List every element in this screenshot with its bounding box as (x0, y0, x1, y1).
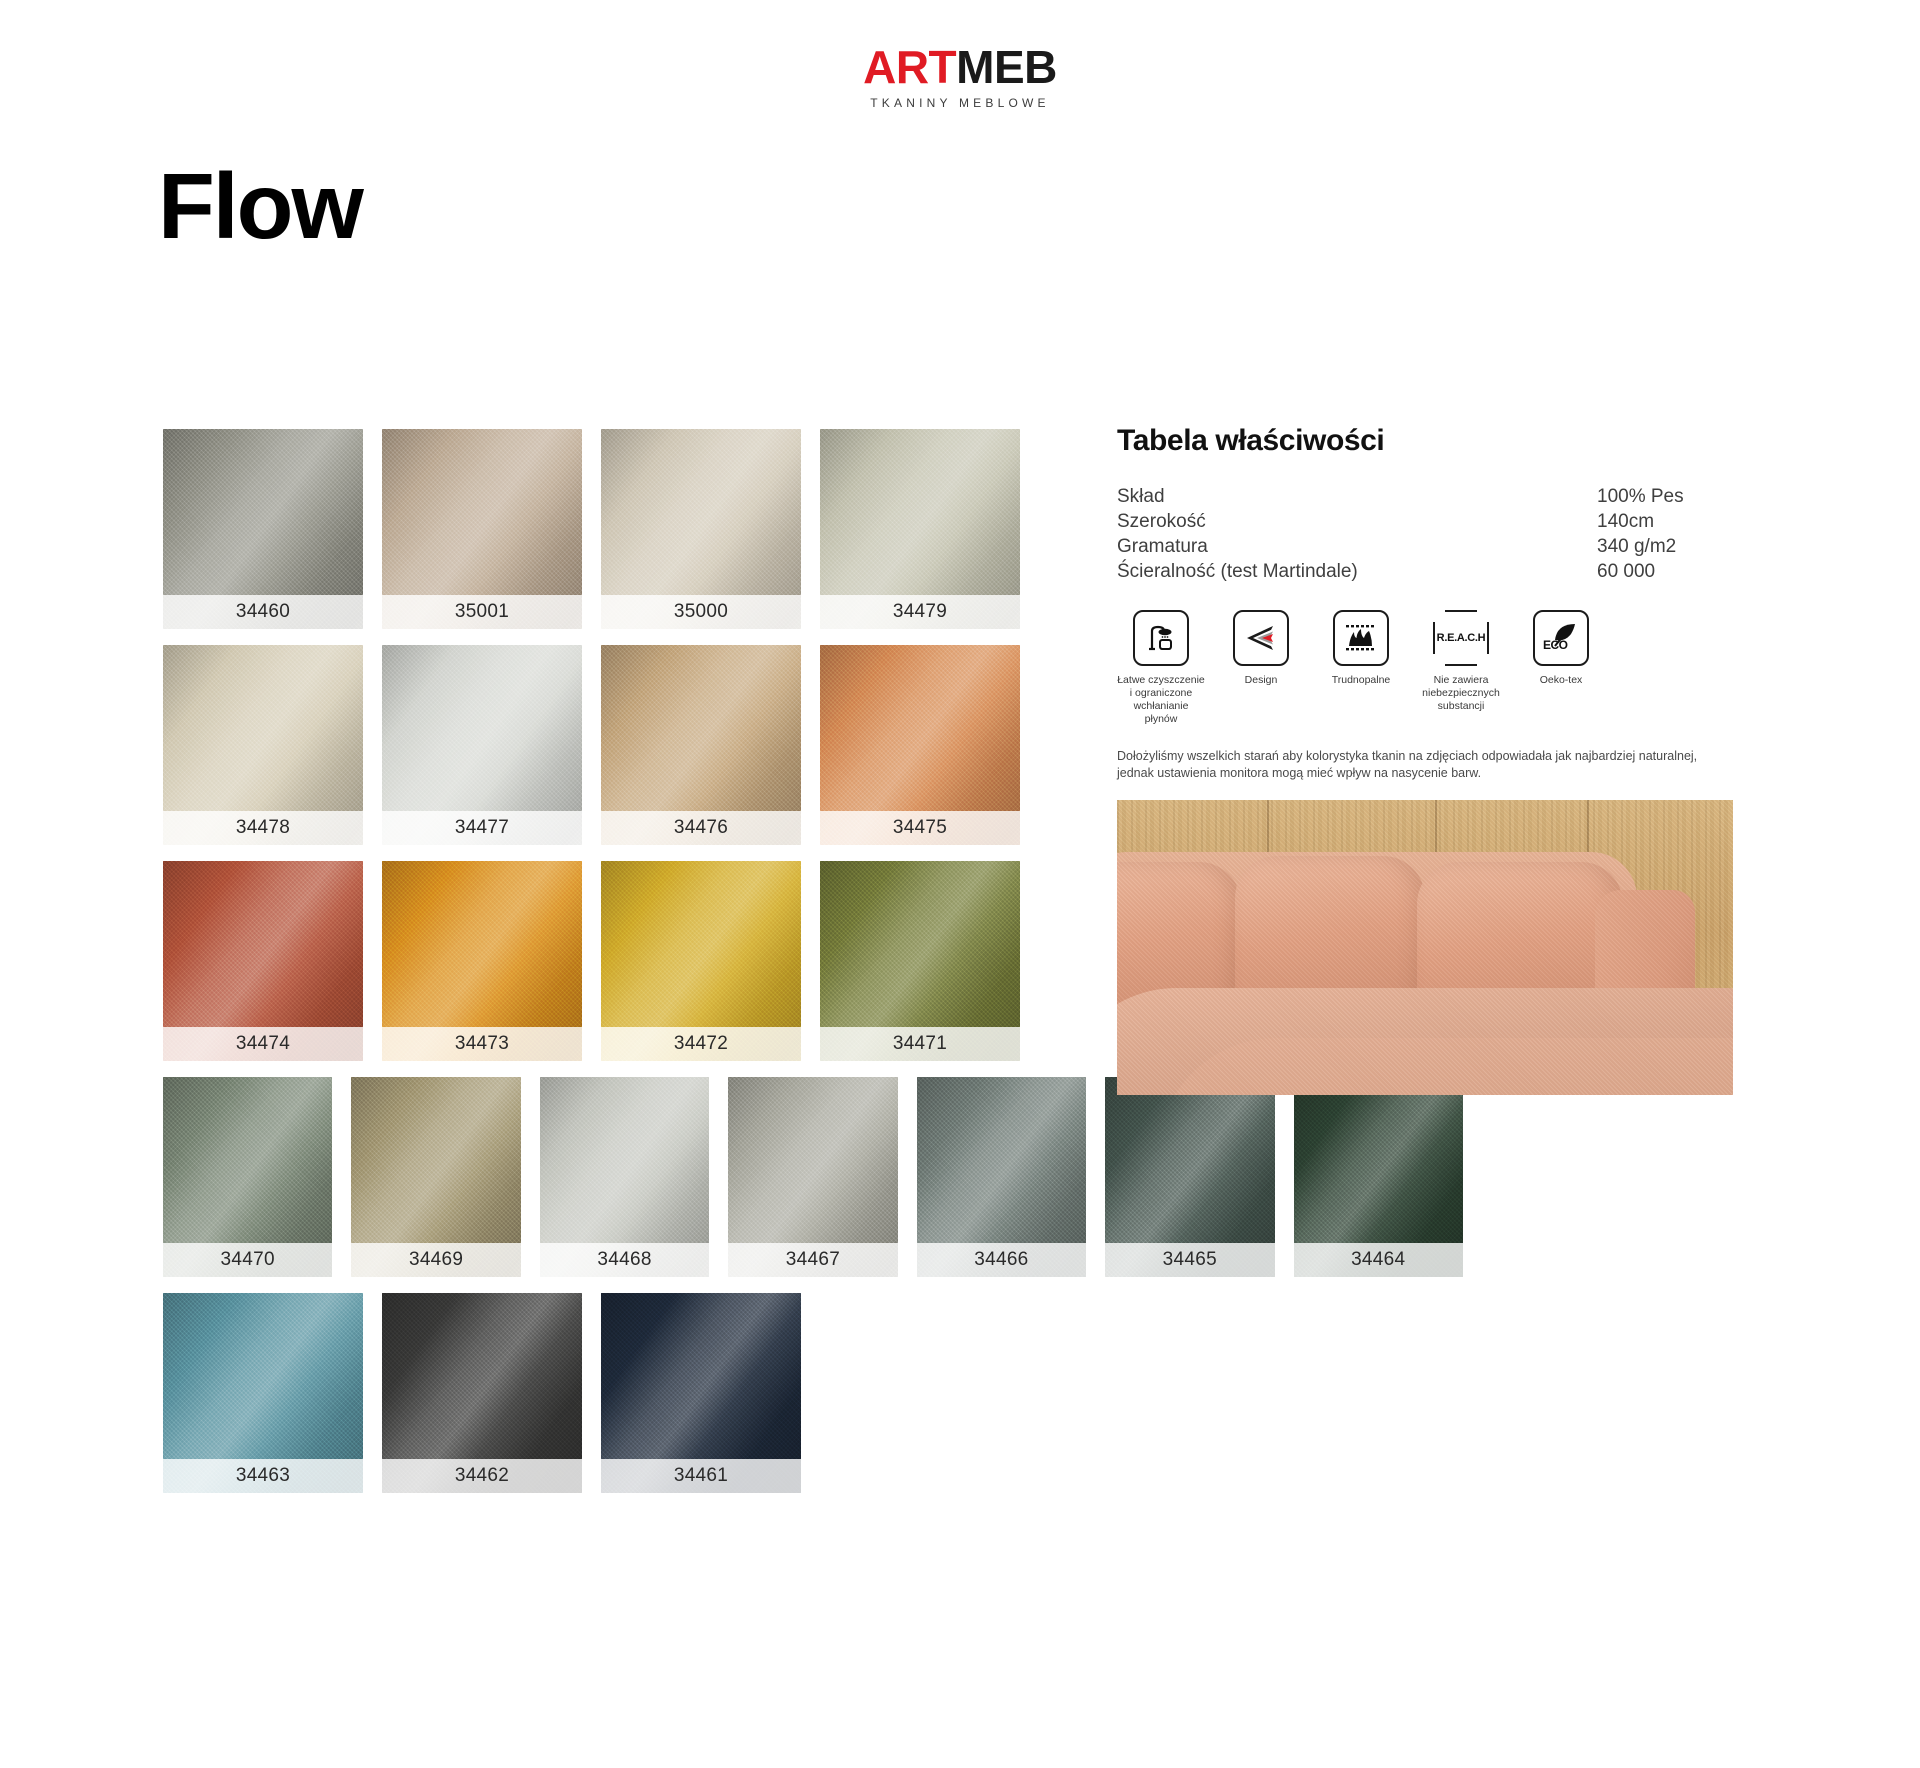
certification-item: Łatwe czyszczenie i ograniczone wchłania… (1117, 610, 1205, 726)
fabric-swatch[interactable]: 34476 (601, 645, 801, 845)
swatch-code-band: 34460 (163, 595, 363, 629)
swatch-row: 34463 34462 34461 (163, 1293, 1463, 1493)
fabric-swatch[interactable]: 34472 (601, 861, 801, 1061)
fabric-swatch[interactable]: 34466 (917, 1077, 1086, 1277)
swatch-code: 34460 (236, 601, 290, 623)
swatch-code-band: 34463 (163, 1459, 363, 1493)
fabric-swatch[interactable]: 34469 (351, 1077, 520, 1277)
eco-label: ECO (1543, 638, 1568, 652)
property-value: 60 000 (1597, 559, 1757, 584)
fabric-swatch[interactable]: 34474 (163, 861, 363, 1061)
property-value: 100% Pes (1597, 484, 1757, 509)
swatch-code: 34474 (236, 1033, 290, 1055)
swatch-code: 34468 (597, 1249, 651, 1271)
swatch-code-band: 34473 (382, 1027, 582, 1061)
certification-caption: Design (1217, 674, 1305, 687)
swatch-code: 34464 (1351, 1249, 1405, 1271)
fabric-swatch[interactable]: 34467 (728, 1077, 897, 1277)
properties-panel: Tabela właściwości Skład 100% Pes Szerok… (1117, 424, 1757, 815)
oeko-tex-icon: ECO (1533, 610, 1589, 666)
property-row: Szerokość 140cm (1117, 509, 1757, 534)
logo-tagline: TKANINY MEBLOWE (0, 96, 1920, 110)
fabric-swatch[interactable]: 34464 (1294, 1077, 1463, 1277)
swatch-code-band: 34477 (382, 811, 582, 845)
property-row: Ścieralność (test Martindale) 60 000 (1117, 559, 1757, 584)
swatch-code-band: 34478 (163, 811, 363, 845)
disclaimer-paragraph-1: Dołożyliśmy wszelkich starań aby kolorys… (1117, 748, 1735, 782)
swatch-row: 34470 34469 34468 34467 (163, 1077, 1463, 1277)
brand-logo: ARTMEB TKANINY MEBLOWE (0, 44, 1920, 110)
swatch-code: 34465 (1163, 1249, 1217, 1271)
design-icon (1233, 610, 1289, 666)
fabric-swatch[interactable]: 34473 (382, 861, 582, 1061)
swatch-code: 34472 (674, 1033, 728, 1055)
property-value: 340 g/m2 (1597, 534, 1757, 559)
swatch-code-band: 34461 (601, 1459, 801, 1493)
swatch-code: 34479 (893, 601, 947, 623)
swatch-code-band: 34470 (163, 1243, 332, 1277)
fabric-swatch[interactable]: 34477 (382, 645, 582, 845)
swatch-code-band: 34472 (601, 1027, 801, 1061)
sofa-room-photo (1117, 800, 1733, 1095)
swatch-code-band: 34471 (820, 1027, 1020, 1061)
swatch-code: 34478 (236, 817, 290, 839)
swatch-code: 34462 (455, 1465, 509, 1487)
swatch-code: 35000 (674, 601, 728, 623)
swatch-code: 34471 (893, 1033, 947, 1055)
fabric-swatch[interactable]: 34460 (163, 429, 363, 629)
logo-wordmark: ARTMEB (0, 44, 1920, 90)
swatch-code-band: 34462 (382, 1459, 582, 1493)
fabric-swatch[interactable]: 35000 (601, 429, 801, 629)
swatch-code-band: 34476 (601, 811, 801, 845)
easy-clean-icon (1133, 610, 1189, 666)
reach-icon: R.E.A.C.H (1433, 610, 1489, 666)
certification-item: ECO Oeko-tex (1517, 610, 1605, 726)
swatch-code: 34470 (221, 1249, 275, 1271)
swatch-code-band: 34464 (1294, 1243, 1463, 1277)
fabric-swatch[interactable]: 34475 (820, 645, 1020, 845)
fabric-swatch[interactable]: 34479 (820, 429, 1020, 629)
fabric-swatch[interactable]: 34468 (540, 1077, 709, 1277)
property-row: Gramatura 340 g/m2 (1117, 534, 1757, 559)
swatch-code: 34463 (236, 1465, 290, 1487)
fabric-swatch[interactable]: 34461 (601, 1293, 801, 1493)
fabric-swatch[interactable]: 34470 (163, 1077, 332, 1277)
certification-caption: Łatwe czyszczenie i ograniczone wchłania… (1117, 674, 1205, 726)
swatch-code-band: 34467 (728, 1243, 897, 1277)
property-value: 140cm (1597, 509, 1757, 534)
property-label: Skład (1117, 484, 1165, 509)
swatch-code: 34466 (974, 1249, 1028, 1271)
properties-table: Skład 100% Pes Szerokość 140cm Gramatura… (1117, 484, 1757, 584)
fabric-swatch[interactable]: 34463 (163, 1293, 363, 1493)
logo-art-text: ART (863, 41, 956, 93)
reach-label: R.E.A.C.H (1437, 632, 1486, 644)
swatch-code-band: 34475 (820, 811, 1020, 845)
properties-heading: Tabela właściwości (1117, 424, 1757, 458)
swatch-code-band: 34469 (351, 1243, 520, 1277)
swatch-code: 34469 (409, 1249, 463, 1271)
logo-meb-text: MEB (956, 41, 1057, 93)
fabric-swatch[interactable]: 34465 (1105, 1077, 1274, 1277)
certification-item: Design (1217, 610, 1305, 726)
fabric-swatch[interactable]: 34471 (820, 861, 1020, 1061)
swatch-code: 34467 (786, 1249, 840, 1271)
flame-retardant-icon (1333, 610, 1389, 666)
sofa-seat-front (1157, 1038, 1733, 1095)
swatch-code: 34477 (455, 817, 509, 839)
certification-caption: Nie zawiera niebezpiecznych substancji (1417, 674, 1505, 713)
swatch-code: 34475 (893, 817, 947, 839)
swatch-code: 35001 (455, 601, 509, 623)
page-title: Flow (158, 160, 362, 253)
swatch-code: 34473 (455, 1033, 509, 1055)
swatch-code-band: 34466 (917, 1243, 1086, 1277)
fabric-swatch[interactable]: 34462 (382, 1293, 582, 1493)
swatch-code-band: 35001 (382, 595, 582, 629)
swatch-code: 34461 (674, 1465, 728, 1487)
swatch-code-band: 34468 (540, 1243, 709, 1277)
property-row: Skład 100% Pes (1117, 484, 1757, 509)
property-label: Szerokość (1117, 509, 1206, 534)
certification-caption: Trudnopalne (1317, 674, 1405, 687)
certification-icon-row: Łatwe czyszczenie i ograniczone wchłania… (1117, 610, 1757, 726)
swatch-code-band: 34479 (820, 595, 1020, 629)
fabric-swatch[interactable]: 34478 (163, 645, 363, 845)
certification-item: Trudnopalne (1317, 610, 1405, 726)
swatch-code-band: 35000 (601, 595, 801, 629)
certification-item: R.E.A.C.H Nie zawiera niebezpiecznych su… (1417, 610, 1505, 726)
swatch-code-band: 34474 (163, 1027, 363, 1061)
property-label: Gramatura (1117, 534, 1208, 559)
certification-caption: Oeko-tex (1517, 674, 1605, 687)
fabric-swatch[interactable]: 35001 (382, 429, 582, 629)
property-label: Ścieralność (test Martindale) (1117, 559, 1358, 584)
swatch-code: 34476 (674, 817, 728, 839)
swatch-code-band: 34465 (1105, 1243, 1274, 1277)
